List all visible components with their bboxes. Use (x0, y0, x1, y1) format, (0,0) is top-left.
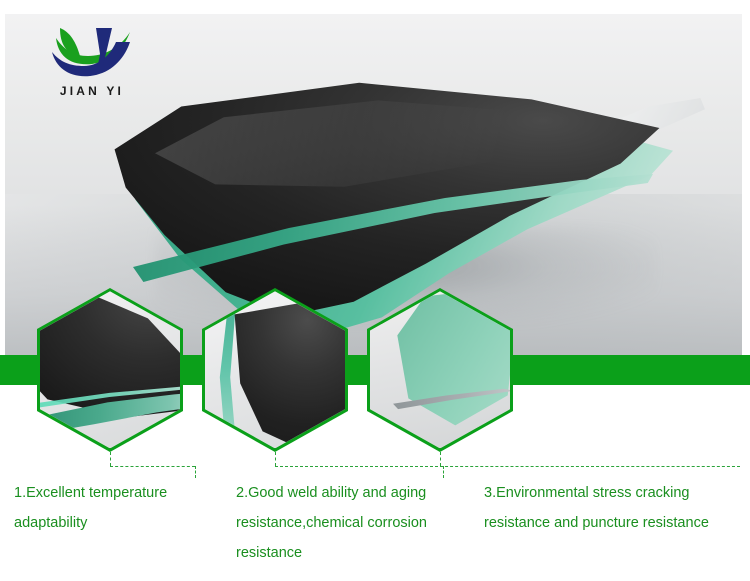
product-feature-banner: JIAN YI (0, 0, 750, 581)
feature-caption-2: 2.Good weld ability and aging resistance… (236, 478, 478, 568)
leaf-swoosh-logo-icon (36, 22, 148, 84)
feature-caption-1: 1.Excellent temperature adaptability (14, 478, 229, 538)
brand-logo: JIAN YI (36, 22, 148, 104)
feature-caption-3: 3.Environmental stress cracking resistan… (484, 478, 746, 538)
brand-name: JIAN YI (36, 84, 148, 98)
